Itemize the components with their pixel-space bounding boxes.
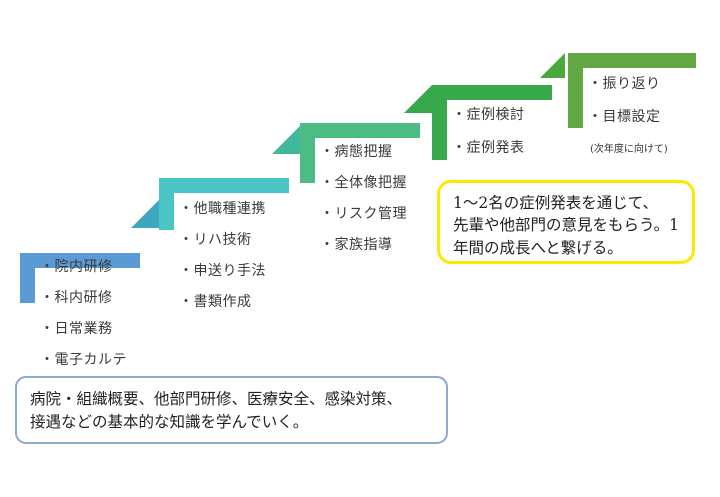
step-3-item-1: ・病態把握 [320, 137, 407, 168]
step-4-riser-triangle-icon [404, 85, 432, 113]
step-2-item-list: ・他職種連携 ・リハ技術 ・申送り手法 ・書類作成 [179, 194, 266, 318]
step-1-item-1: ・院内研修 [40, 252, 127, 283]
step-5-item-list: ・振り返り ・目標設定 [588, 68, 661, 134]
callout-blue-box: 病院・組織概要、他部門研修、医療安全、感染対策、 接遇などの基本的な知識を学んで… [15, 376, 448, 444]
step-5-horizontal-bar [568, 53, 696, 68]
step-5-item-1: ・振り返り [588, 68, 661, 101]
step-2-vertical-bar [159, 178, 174, 230]
step-1-item-2: ・科内研修 [40, 283, 127, 314]
step-1-item-4: ・電子カルテ [40, 345, 127, 376]
step-3-item-list: ・病態把握 ・全体像把握 ・リスク管理 ・家族指導 [320, 137, 407, 261]
step-4-item-1: ・症例検討 [452, 99, 525, 132]
step-2-item-1: ・他職種連携 [179, 194, 266, 225]
step-1-item-3: ・日常業務 [40, 314, 127, 345]
step-2-item-3: ・申送り手法 [179, 256, 266, 287]
step-4-vertical-bar [432, 85, 447, 160]
step-2-item-4: ・書類作成 [179, 287, 266, 318]
step-5-vertical-bar [568, 53, 583, 128]
step-5-note: (次年度に向けて) [590, 140, 668, 155]
step-4-item-2: ・症例発表 [452, 132, 525, 165]
step-3-item-4: ・家族指導 [320, 230, 407, 261]
step-3-item-3: ・リスク管理 [320, 199, 407, 230]
step-3-riser-triangle-icon [272, 126, 300, 154]
step-3-item-2: ・全体像把握 [320, 168, 407, 199]
step-3-horizontal-bar [300, 123, 420, 138]
step-5-item-2: ・目標設定 [588, 101, 661, 134]
step-1-vertical-bar [20, 253, 35, 303]
step-2-riser-triangle-icon [131, 200, 159, 228]
step-3-vertical-bar [300, 123, 315, 183]
callout-blue-line-1: 病院・組織概要、他部門研修、医療安全、感染対策、 [30, 388, 434, 411]
callout-blue-line-2: 接遇などの基本的な知識を学んでいく。 [30, 411, 434, 434]
step-4-item-list: ・症例検討 ・症例発表 [452, 99, 525, 165]
callout-yellow-line-1: 1〜2名の症例発表を通じて、 [453, 192, 680, 214]
step-4-horizontal-bar [432, 85, 552, 100]
diagram-canvas: ・院内研修 ・科内研修 ・日常業務 ・電子カルテ ・他職種連携 ・リハ技術 ・申… [0, 0, 720, 497]
step-2-horizontal-bar [159, 178, 289, 193]
step-1-item-list: ・院内研修 ・科内研修 ・日常業務 ・電子カルテ [40, 252, 127, 376]
callout-yellow-line-2: 先輩や他部門の意見をもらう。1 [453, 214, 680, 236]
callout-yellow-box: 1〜2名の症例発表を通じて、 先輩や他部門の意見をもらう。1 年間の成長へと繋げ… [437, 180, 695, 264]
step-2-item-2: ・リハ技術 [179, 225, 266, 256]
callout-yellow-line-3: 年間の成長へと繋げる。 [453, 237, 680, 259]
step-5-riser-triangle-icon [540, 53, 565, 78]
